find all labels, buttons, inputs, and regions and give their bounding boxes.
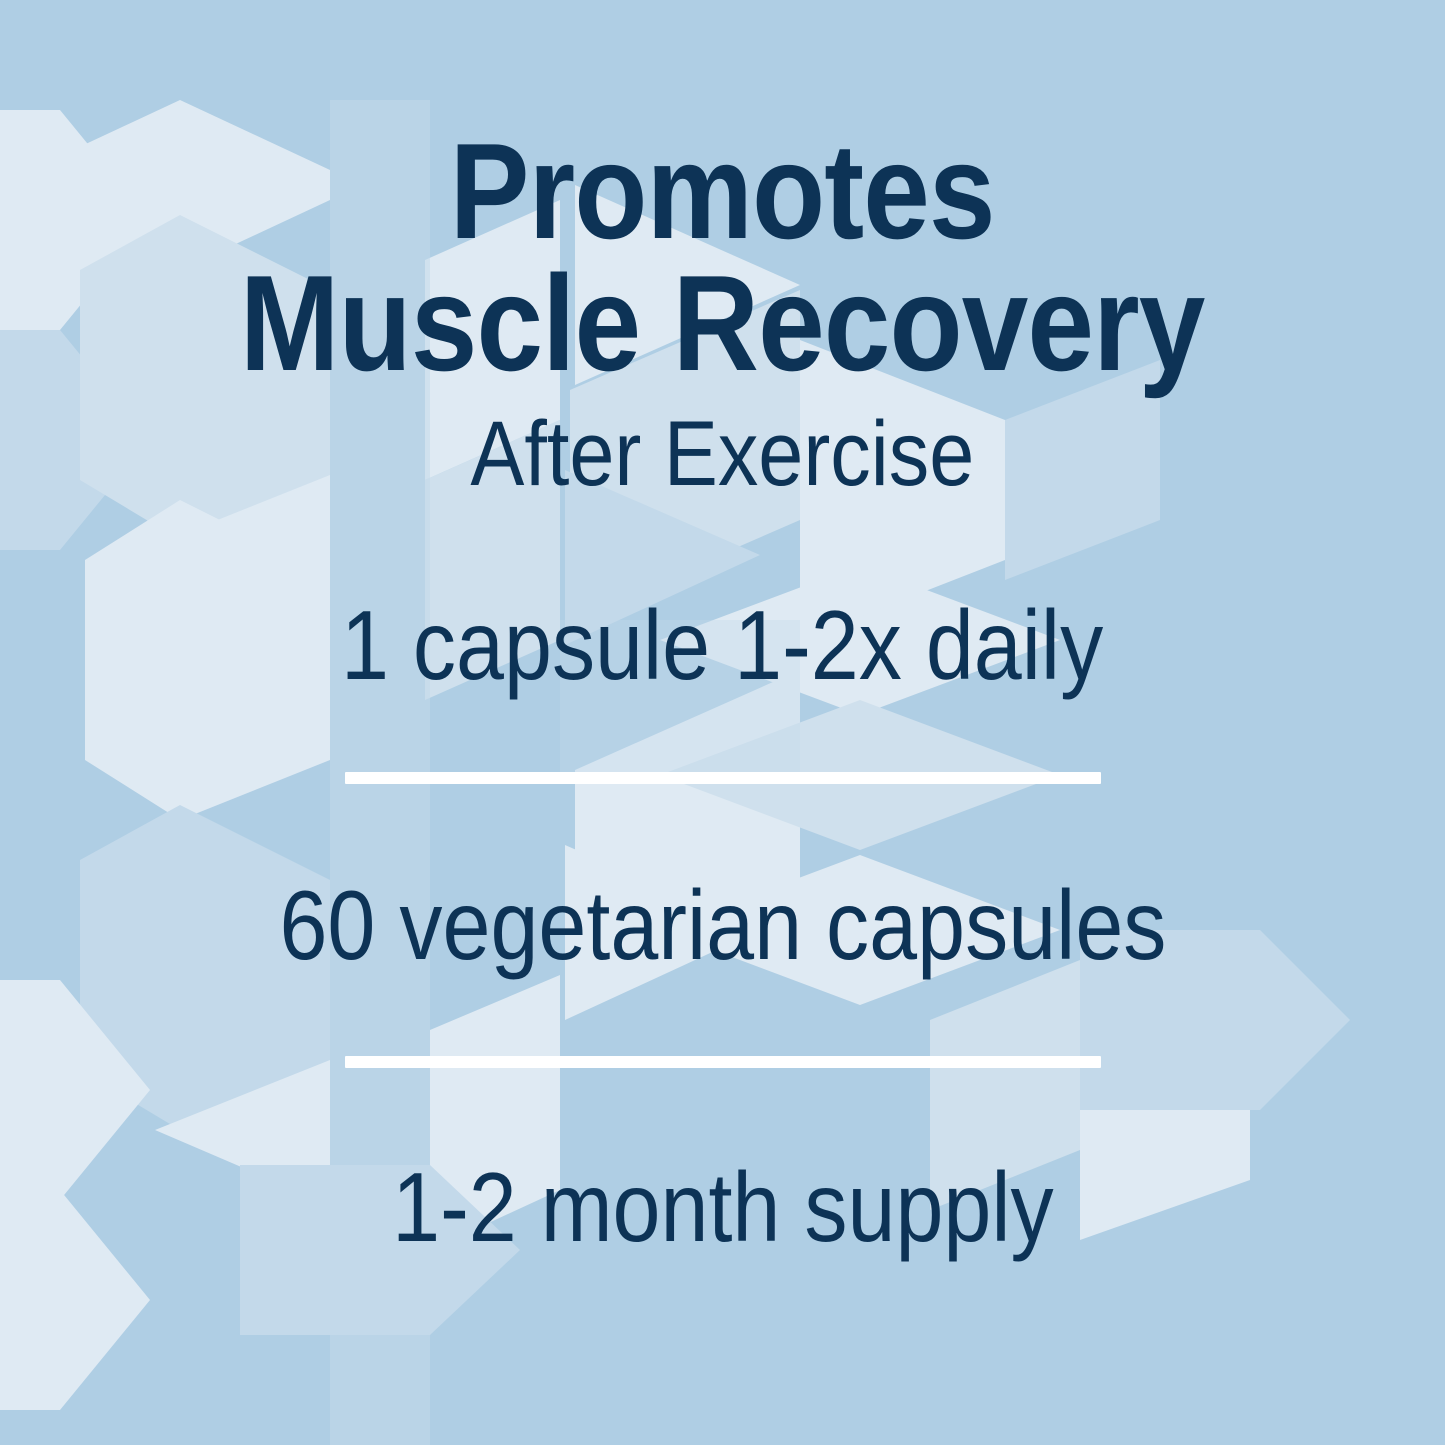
subheadline: After Exercise (471, 408, 975, 500)
fact-supply: 1-2 month supply (392, 1158, 1054, 1256)
headline-line-2: Muscle Recovery (240, 258, 1205, 390)
divider-rule-1 (345, 772, 1101, 784)
fact-dosage: 1 capsule 1-2x daily (341, 596, 1103, 694)
headline-line-1: Promotes (240, 126, 1205, 258)
product-benefit-card: .lt { fill: #dfeaf3; } .md { fill: #cfe0… (0, 0, 1445, 1445)
fact-count: 60 vegetarian capsules (279, 876, 1166, 974)
content-stack: Promotes Muscle Recovery After Exercise … (0, 0, 1445, 1445)
divider-rule-2 (345, 1056, 1101, 1068)
page-title: Promotes Muscle Recovery (240, 126, 1205, 390)
